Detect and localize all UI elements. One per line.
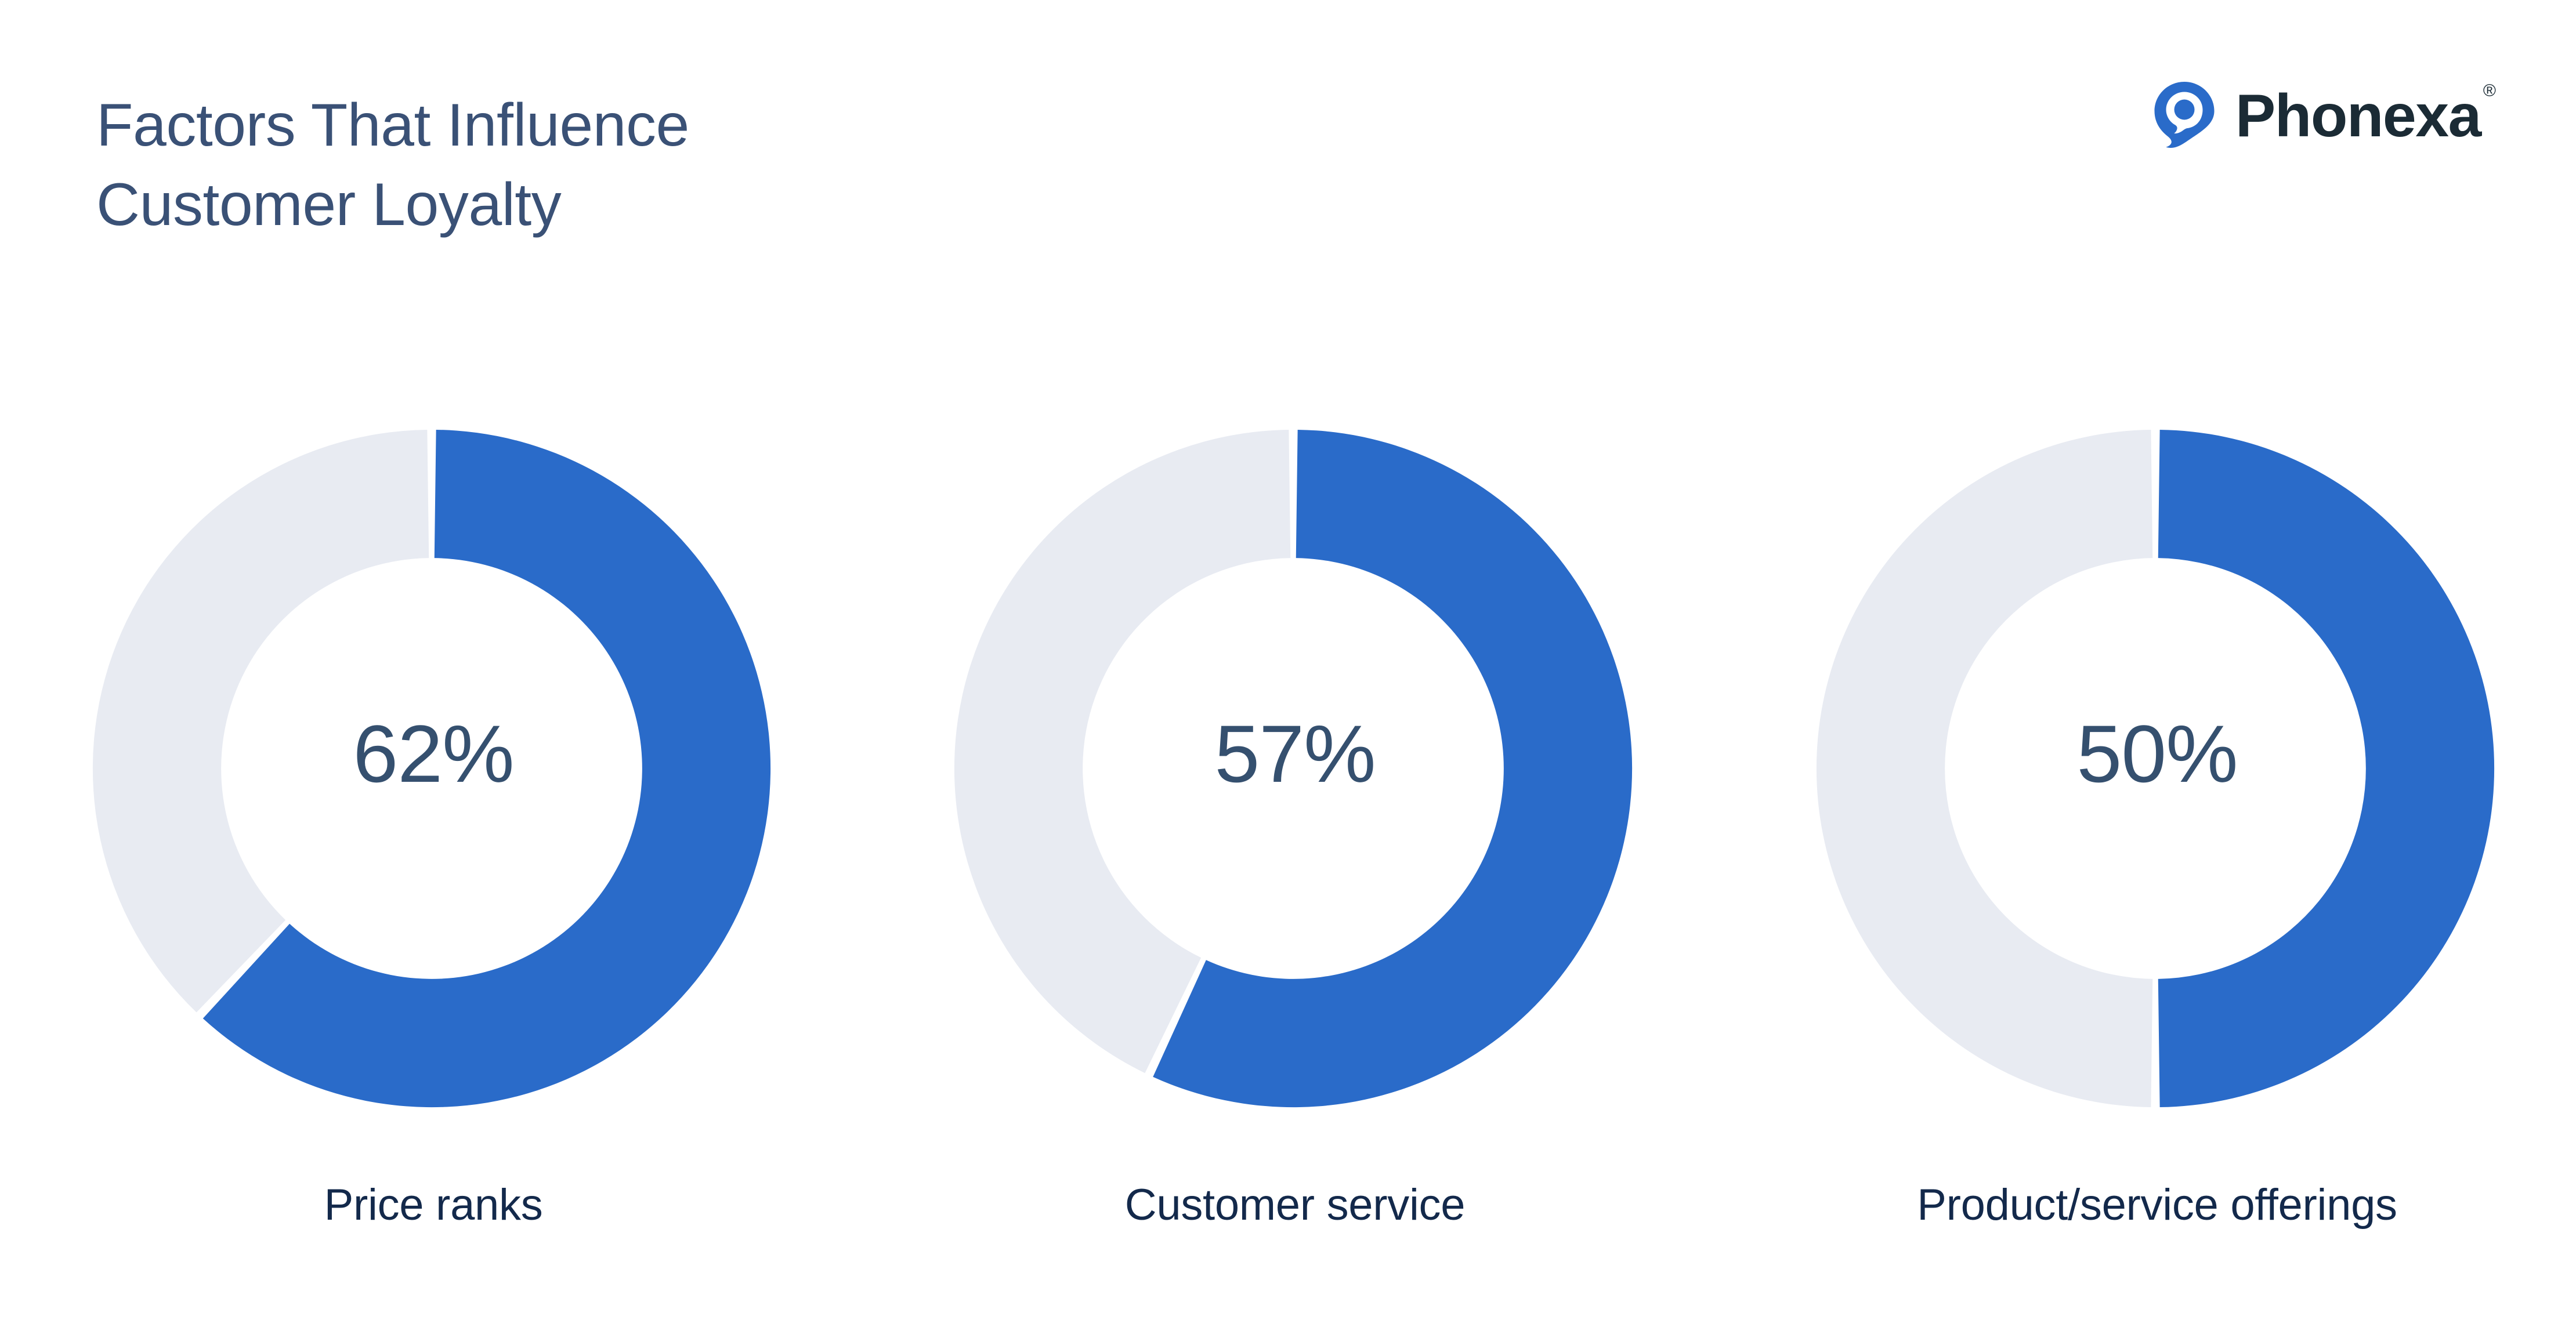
donut-chart-price-ranks: 62%: [74, 406, 793, 1160]
donut-label-row: Price ranks Customer service Product/ser…: [0, 1177, 2576, 1259]
donut-value-label-0: 62%: [74, 713, 793, 795]
donut-category-label-1: Customer service: [918, 1177, 1672, 1232]
donut-chart-row: 62% 57% 50%: [0, 406, 2576, 1160]
brand-logo: Phonexa ®: [2153, 80, 2496, 150]
donut-category-label-0: Price ranks: [56, 1177, 811, 1232]
page-title: Factors That Influence Customer Loyalty: [96, 86, 1489, 245]
donut-category-label-2: Product/service offerings: [1780, 1177, 2534, 1232]
donut-value-label-1: 57%: [935, 713, 1655, 795]
registered-trademark-icon: ®: [2483, 82, 2496, 100]
header: Factors That Influence Customer Loyalty …: [0, 0, 2576, 325]
phonexa-pin-icon: [2153, 81, 2216, 148]
donut-chart-product-service-offerings: 50%: [1797, 406, 2517, 1160]
donut-chart-customer-service: 57%: [935, 406, 1655, 1160]
brand-wordmark: Phonexa: [2235, 86, 2481, 146]
donut-value-label-2: 50%: [1797, 713, 2517, 795]
